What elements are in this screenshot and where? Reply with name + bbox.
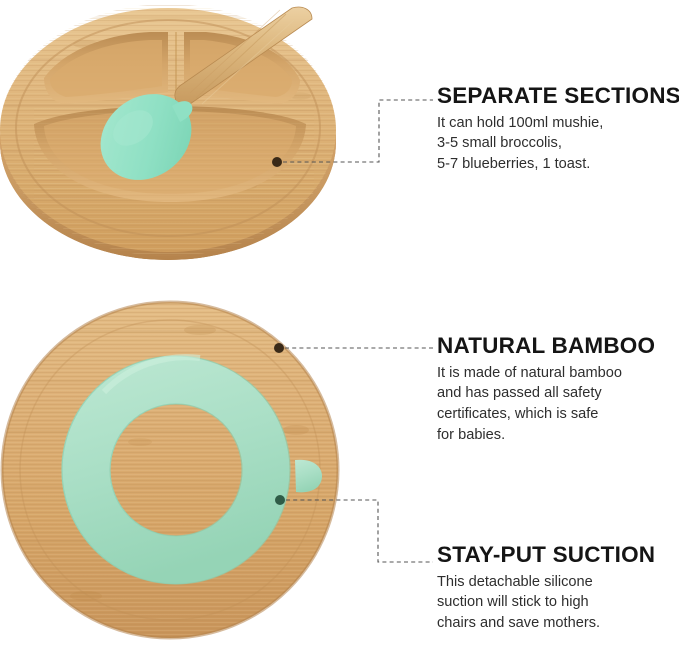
callout-stay-put-suction: STAY-PUT SUCTION This detachable silicon… — [437, 543, 655, 634]
callout-marker-stay-put-suction — [275, 495, 285, 505]
callout-title-stay-put-suction: STAY-PUT SUCTION — [437, 543, 655, 567]
callout-title-separate-sections: SEPARATE SECTIONS — [437, 84, 679, 108]
callout-marker-natural-bamboo — [274, 343, 284, 353]
callout-separate-sections: SEPARATE SECTIONS It can hold 100ml mush… — [437, 84, 679, 175]
infographic-canvas: SEPARATE SECTIONS It can hold 100ml mush… — [0, 0, 679, 658]
photo-divided-plate-with-spoon — [0, 0, 340, 260]
callout-body-separate-sections: It can hold 100ml mushie, 3-5 small broc… — [437, 113, 679, 175]
callout-marker-separate-sections — [272, 157, 282, 167]
callout-body-stay-put-suction: This detachable silicone suction will st… — [437, 572, 655, 634]
callout-natural-bamboo: NATURAL BAMBOO It is made of natural bam… — [437, 334, 655, 446]
photo-plate-underside-with-suction — [0, 300, 345, 645]
callout-title-natural-bamboo: NATURAL BAMBOO — [437, 334, 655, 358]
callout-body-natural-bamboo: It is made of natural bamboo and has pas… — [437, 363, 655, 446]
